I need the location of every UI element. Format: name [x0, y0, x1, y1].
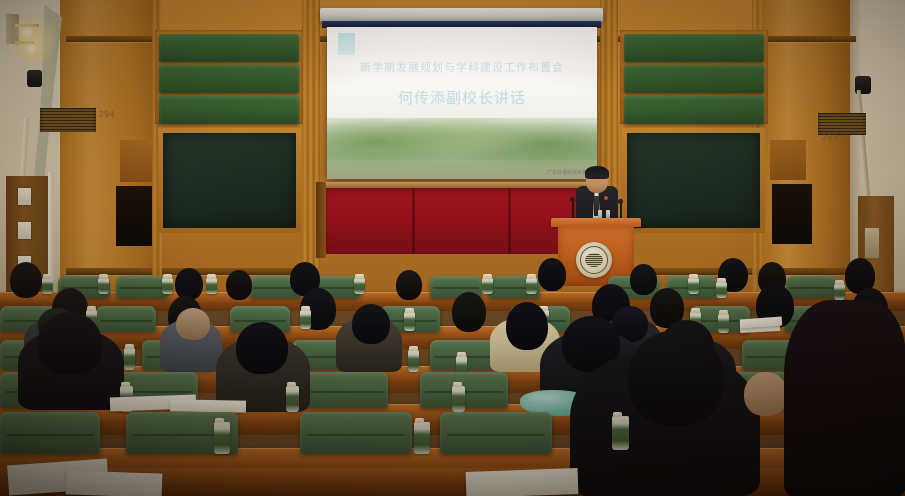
- slide-subtitle: 何传添副校长讲话: [327, 87, 597, 108]
- door-window: [18, 188, 31, 205]
- acoustic-panel-group-left: [155, 30, 303, 124]
- attendee-torso-foreground: [784, 300, 905, 496]
- bottle-cap: [453, 382, 462, 387]
- university-emblem: [576, 242, 612, 278]
- slide-title: 新学期发展规划与学科建设工作布置会: [327, 59, 597, 75]
- water-bottle: [404, 312, 415, 331]
- water-bottle: [716, 282, 727, 298]
- acoustic-panel-group-right: [620, 30, 768, 124]
- water-bottle: [42, 278, 53, 294]
- seat: [96, 306, 156, 332]
- water-bottle: [718, 314, 729, 333]
- water-bottle: [414, 422, 430, 454]
- bottle-cap: [409, 346, 418, 351]
- wall-inset-right: [770, 140, 806, 180]
- bottle-cap: [87, 306, 96, 311]
- acoustic-panel: [159, 96, 299, 124]
- bottle-cap: [405, 308, 414, 313]
- chalkboard-frame-right: [622, 128, 765, 233]
- seat: [0, 412, 100, 454]
- projection-screen-housing: [320, 8, 603, 22]
- slide-background: [327, 27, 597, 127]
- attendee-head-foreground: [628, 330, 724, 426]
- emblem-globe-icon: [585, 253, 603, 267]
- attendee-head: [538, 258, 566, 291]
- document-paper: [170, 399, 246, 412]
- attendee-head: [630, 264, 657, 295]
- room-number-right: 293: [822, 133, 838, 142]
- attendee-head: [352, 304, 390, 344]
- acoustic-panel: [624, 34, 764, 62]
- bottle-cap: [835, 280, 844, 285]
- microphone-head-left: [570, 197, 575, 202]
- attendee-head: [38, 312, 102, 374]
- speaker-lapel-badge: [604, 196, 608, 200]
- water-bottle: [162, 278, 173, 294]
- water-bottle: [408, 350, 419, 372]
- speaker-hair: [585, 166, 609, 179]
- slide-logo: [338, 33, 355, 55]
- attendee-head: [176, 308, 210, 340]
- attendee-head: [10, 262, 42, 298]
- document-paper: [466, 468, 579, 496]
- wall-sconce-lamp: [22, 27, 33, 38]
- bottle-cap: [125, 344, 134, 349]
- door-sign-right: [865, 228, 879, 258]
- water-bottle: [214, 422, 230, 454]
- bottle-cap: [613, 412, 622, 417]
- backdrop-seam: [412, 188, 415, 254]
- microphone-stem-left: [572, 200, 574, 220]
- acoustic-panel: [159, 34, 299, 62]
- attendee-face-partial: [744, 372, 788, 416]
- wall-sconce-lamp: [27, 44, 36, 53]
- stage-frame-left: [316, 182, 326, 258]
- water-bottle: [124, 348, 135, 370]
- water-bottle: [482, 278, 493, 294]
- water-bottle: [612, 416, 629, 450]
- attendee-head: [226, 270, 252, 300]
- acoustic-panel: [624, 65, 764, 93]
- lecture-hall-photo: 新学期发展规划与学科建设工作布置会 何传添副校长讲话 广东外语外贸大学 294 …: [0, 0, 905, 496]
- bottle-cap: [99, 274, 108, 279]
- bottle-cap: [43, 274, 52, 279]
- attendee-head: [506, 302, 548, 350]
- air-vent-grille-right: [818, 113, 866, 135]
- bottle-cap: [301, 306, 310, 311]
- water-bottle: [526, 278, 537, 294]
- bottle-cap: [121, 382, 130, 387]
- bottle-cap: [527, 274, 536, 279]
- seat: [440, 412, 552, 454]
- seat: [300, 372, 388, 408]
- acoustic-panel: [159, 65, 299, 93]
- bottle-cap: [415, 418, 424, 423]
- acoustic-panel: [624, 96, 764, 124]
- backdrop-seam: [508, 188, 511, 254]
- bottle-cap: [355, 274, 364, 279]
- seat: [300, 412, 412, 454]
- projection-screen: 新学期发展规划与学科建设工作布置会 何传添副校长讲话 广东外语外贸大学: [327, 27, 597, 179]
- attendee-head: [396, 270, 422, 300]
- chalkboard-right: [627, 133, 760, 228]
- slide-footer-caption: 广东外语外贸大学: [547, 169, 587, 176]
- attendee-head: [236, 322, 288, 374]
- seat: [116, 276, 168, 298]
- water-bottle: [834, 284, 845, 300]
- bottle-cap: [717, 278, 726, 283]
- water-bottle: [452, 386, 465, 412]
- attendee-head: [452, 292, 486, 332]
- bottle-cap: [215, 418, 224, 423]
- chalkboard-frame-left: [158, 128, 301, 233]
- bottle-cap: [287, 382, 296, 387]
- bottle-cap: [483, 274, 492, 279]
- bottle-cap: [207, 274, 216, 279]
- bottle-cap: [719, 310, 728, 315]
- wall-recess-left: [116, 186, 152, 246]
- water-bottle: [688, 278, 699, 294]
- bottle-cap: [691, 308, 700, 313]
- room-number-left: 294: [99, 110, 115, 119]
- seat: [786, 276, 838, 298]
- attendee-head: [175, 268, 203, 300]
- water-bottle: [206, 278, 217, 294]
- air-vent-grille-left: [40, 108, 96, 132]
- bottle-cap: [689, 274, 698, 279]
- document-paper: [66, 470, 163, 496]
- wall-recess-right: [772, 184, 812, 244]
- wall-inset-left: [120, 140, 152, 182]
- door-window: [18, 222, 31, 239]
- bottle-cap: [163, 274, 172, 279]
- water-bottle: [286, 386, 299, 412]
- ceiling-camera-left: [27, 70, 42, 87]
- water-bottle: [300, 310, 311, 329]
- water-bottle: [98, 278, 109, 294]
- microphone-head-right: [618, 199, 623, 204]
- bottle-cap: [457, 352, 466, 357]
- water-bottle: [354, 278, 365, 294]
- sconce-backplate: [6, 13, 19, 44]
- chalkboard-left: [163, 133, 296, 228]
